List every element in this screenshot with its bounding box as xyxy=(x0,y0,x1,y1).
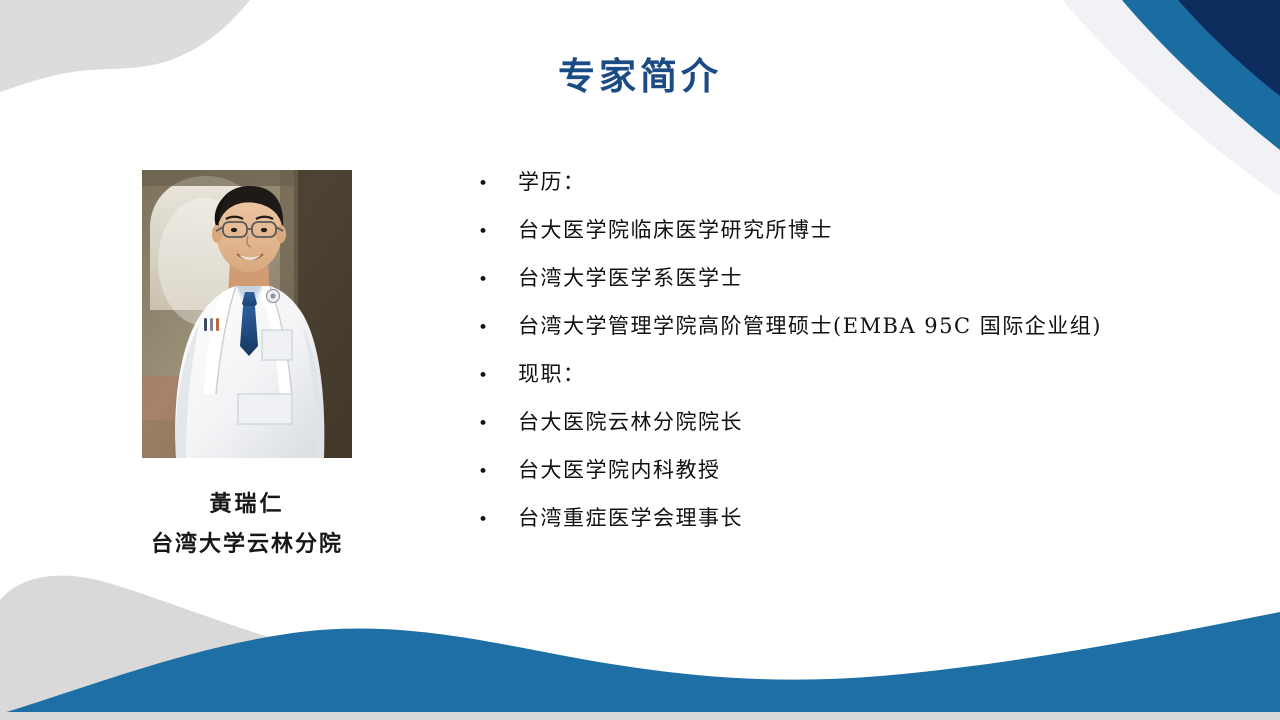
list-item: • 台大医学院内科教授 xyxy=(478,454,1238,502)
list-item: • 台湾大学医学系医学士 xyxy=(478,262,1238,310)
list-item-label: 台大医院云林分院院长 xyxy=(518,406,743,436)
list-item: • 台湾重症医学会理事长 xyxy=(478,502,1238,550)
list-item-label: 台湾重症医学会理事长 xyxy=(518,502,743,532)
list-item-label: 台湾大学医学系医学士 xyxy=(518,262,743,292)
bottom-blue-wave xyxy=(0,612,1280,714)
bullet-icon: • xyxy=(478,368,518,385)
list-item-label: 台大医学院临床医学研究所博士 xyxy=(518,214,833,244)
list-item-label: 台湾大学管理学院高阶管理硕士(EMBA 95C 国际企业组) xyxy=(518,310,1102,340)
speaker-affiliation: 台湾大学云林分院 xyxy=(142,524,352,564)
list-item: • 台大医院云林分院院长 xyxy=(478,406,1238,454)
bottom-edge-strip xyxy=(0,712,1280,720)
bio-bullet-list: • 学历： • 台大医学院临床医学研究所博士 • 台湾大学医学系医学士 • 台湾… xyxy=(478,166,1238,550)
bottom-gray-wave xyxy=(0,576,1280,720)
list-item-label: 学历： xyxy=(518,166,586,196)
speaker-profile-block: 黃瑞仁 台湾大学云林分院 xyxy=(142,170,352,564)
page-title: 专家简介 xyxy=(0,46,1280,100)
bullet-icon: • xyxy=(478,176,518,193)
list-item-label: 台大医学院内科教授 xyxy=(518,454,721,484)
bullet-icon: • xyxy=(478,320,518,337)
speaker-name: 黃瑞仁 xyxy=(142,484,352,524)
bullet-icon: • xyxy=(478,224,518,241)
list-item: • 学历： xyxy=(478,166,1238,214)
list-item: • 台大医学院临床医学研究所博士 xyxy=(478,214,1238,262)
bullet-icon: • xyxy=(478,464,518,481)
bullet-icon: • xyxy=(478,512,518,529)
speaker-caption: 黃瑞仁 台湾大学云林分院 xyxy=(142,484,352,564)
list-item: • 现职： xyxy=(478,358,1238,406)
bullet-icon: • xyxy=(478,272,518,289)
presentation-slide: 专家简介 xyxy=(0,0,1280,720)
list-item: • 台湾大学管理学院高阶管理硕士(EMBA 95C 国际企业组) xyxy=(478,310,1238,358)
bullet-icon: • xyxy=(478,416,518,433)
list-item-label: 现职： xyxy=(518,358,586,388)
speaker-portrait-photo xyxy=(142,170,352,458)
